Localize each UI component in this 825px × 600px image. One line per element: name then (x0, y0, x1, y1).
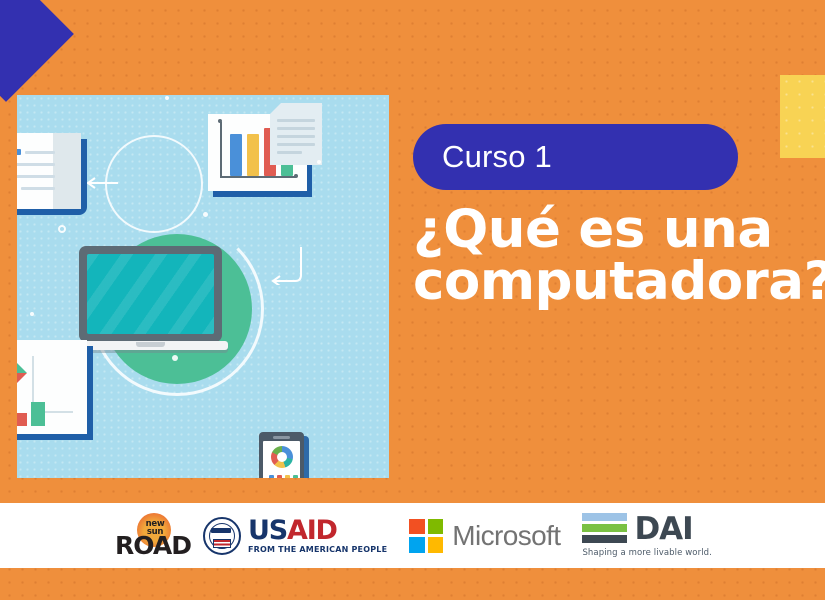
illustration-panel: Una computadora es un equipo electrónico… (17, 95, 389, 478)
usaid-wordmark: USAID FROM THE AMERICAN PEOPLE (248, 517, 387, 554)
laptop-screen (87, 254, 214, 334)
phone-screen (263, 441, 300, 478)
card-body (17, 133, 81, 209)
donut-chart-icon (271, 446, 293, 468)
page-title: ¿Qué es una computadora? (413, 204, 825, 309)
small-dot-decoration (30, 312, 34, 316)
pinwheel-chart-card (17, 340, 93, 440)
new-sun-road-wordmark: ROAD (115, 533, 191, 558)
yellow-rect-decoration (780, 75, 825, 158)
diamond-decoration (0, 0, 74, 102)
card-side-panel (53, 133, 81, 209)
dai-wordmark: DAI (634, 515, 692, 544)
microsoft-squares-icon (409, 519, 443, 553)
usaid-word-us: US (248, 515, 287, 546)
arrow-corner-icon (269, 245, 303, 285)
logo-microsoft: Microsoft (409, 519, 560, 553)
small-ring-decoration (58, 225, 66, 233)
small-dot-decoration (203, 212, 208, 217)
course-badge: Curso 1 (413, 124, 738, 190)
logo-usaid: USAID FROM THE AMERICAN PEOPLE (203, 517, 387, 555)
course-badge-label: Curso 1 (442, 139, 552, 175)
phone-speaker (273, 436, 290, 439)
usaid-tagline: FROM THE AMERICAN PEOPLE (248, 546, 387, 554)
slide-stage: Una computadora es un equipo electrónico… (0, 0, 825, 600)
partner-logo-bar: new sun ROAD USAID FROM THE AMERICAN PEO… (0, 503, 825, 568)
smartphone-illustration (259, 432, 309, 478)
bar-row (17, 149, 75, 155)
pinwheel-icon (17, 350, 27, 396)
arrow-left-icon (85, 177, 119, 189)
logo-new-sun-road: new sun ROAD (113, 511, 181, 561)
axis-dot (294, 174, 298, 178)
bar-chart-card (208, 114, 312, 197)
small-dot-decoration (165, 96, 169, 100)
phone-body (259, 432, 304, 478)
chart-bar (230, 134, 242, 176)
chart-y-axis (220, 122, 222, 178)
paper-fold (270, 103, 281, 114)
axis-dot (218, 119, 222, 123)
mini-bar (17, 413, 27, 426)
usaid-word-aid: AID (287, 515, 337, 546)
microsoft-wordmark: Microsoft (452, 520, 560, 552)
logo-dai: DAI Shaping a more livable world. (582, 513, 712, 558)
bar-row (17, 185, 75, 191)
small-dot-decoration (317, 160, 321, 164)
decorative-arc (105, 135, 203, 233)
bar-row (17, 161, 75, 167)
card-body (17, 340, 87, 434)
small-dot-decoration (172, 355, 178, 361)
bar-row (17, 173, 75, 179)
document-card-left (17, 133, 87, 215)
mini-bar (31, 402, 45, 426)
dai-bars-icon (582, 513, 627, 546)
laptop-trackpad (136, 342, 165, 347)
paper-sheet (270, 103, 322, 165)
chart-x-axis (220, 176, 296, 178)
chart-bar (247, 134, 259, 176)
dai-tagline: Shaping a more livable world. (582, 548, 712, 558)
laptop-illustration (73, 246, 228, 366)
usaid-seal-icon (203, 517, 241, 555)
